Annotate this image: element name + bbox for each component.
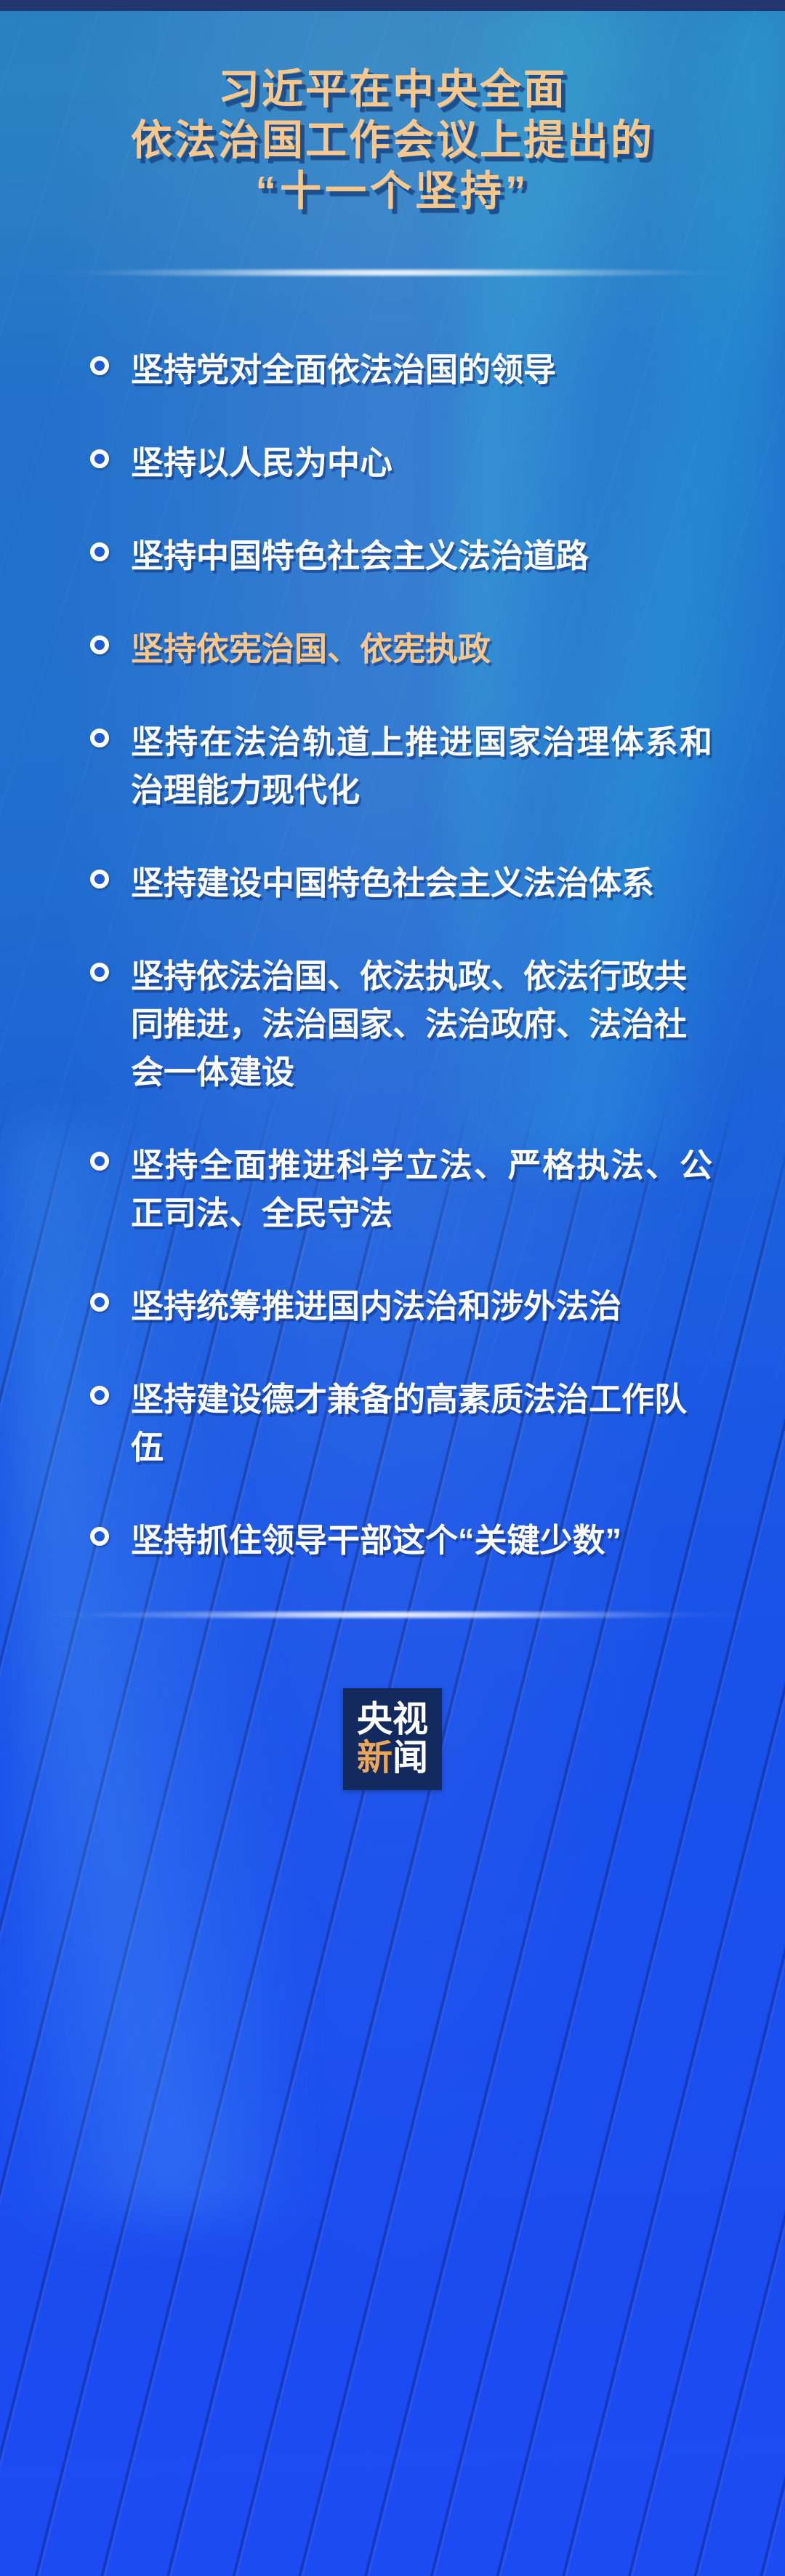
poster-header: 习近平在中央全面 依法治国工作会议上提出的 “十一个坚持” (0, 0, 785, 217)
list-item: 坚持依法治国、依法执政、依法行政共同推进，法治国家、法治政府、法治社会一体建设 (0, 952, 785, 1096)
list-item: 坚持在法治轨道上推进国家治理体系和治理能力现代化 (0, 718, 785, 814)
bullet-circle-icon (90, 449, 109, 468)
bullet-circle-icon (90, 1152, 109, 1171)
bullet-circle-icon (90, 356, 109, 375)
list-item-label: 坚持以人民为中心 (131, 439, 392, 487)
bullet-circle-icon (90, 1527, 109, 1546)
logo-line-1: 央视 (357, 1702, 428, 1738)
divider-bottom-glow (23, 1611, 761, 1618)
logo-text-yangshi: 央视 (357, 1702, 428, 1738)
page-title-line-1: 习近平在中央全面 (0, 64, 785, 115)
bullet-circle-icon (90, 1293, 109, 1312)
list-item: 坚持以人民为中心 (0, 439, 785, 487)
bullet-circle-icon (90, 729, 109, 747)
list-item: 坚持全面推进科学立法、严格执法、公正司法、全民守法 (0, 1141, 785, 1237)
poster-footer: 央视 新闻 (0, 1618, 785, 1834)
list-item-label: 坚持中国特色社会主义法治道路 (131, 532, 589, 580)
list-item-label: 坚持统筹推进国内法治和涉外法治 (131, 1283, 621, 1331)
logo-line-2: 新闻 (357, 1741, 428, 1776)
bullet-circle-icon (90, 870, 109, 888)
list-item: 坚持建设德才兼备的高素质法治工作队伍 (0, 1376, 785, 1472)
bullet-circle-icon (90, 963, 109, 982)
list-item-label: 坚持党对全面依法治国的领导 (131, 346, 556, 394)
principles-list: 坚持党对全面依法治国的领导 坚持以人民为中心 坚持中国特色社会主义法治道路 坚持… (0, 276, 785, 1565)
logo-text-wen: 闻 (392, 1741, 428, 1776)
bullet-circle-icon (90, 542, 109, 561)
list-item: 坚持党对全面依法治国的领导 (0, 346, 785, 394)
list-item-label: 坚持抓住领导干部这个“关键少数” (131, 1517, 621, 1565)
list-item-label: 坚持依宪治国、依宪执政 (131, 625, 491, 673)
list-item-label: 坚持全面推进科学立法、严格执法、公正司法、全民守法 (131, 1141, 712, 1237)
bullet-circle-icon (90, 1386, 109, 1405)
logo-text-xin: 新 (357, 1741, 392, 1776)
list-item: 坚持依宪治国、依宪执政 (0, 625, 785, 673)
cctv-news-logo: 央视 新闻 (343, 1688, 442, 1790)
page-title-line-3: “十一个坚持” (0, 166, 785, 217)
divider-top-glow (23, 269, 761, 276)
list-item: 坚持抓住领导干部这个“关键少数” (0, 1517, 785, 1565)
list-item-label: 坚持建设德才兼备的高素质法治工作队伍 (131, 1376, 712, 1472)
list-item-label: 坚持在法治轨道上推进国家治理体系和治理能力现代化 (131, 718, 712, 814)
page-title-line-2: 依法治国工作会议上提出的 (0, 115, 785, 166)
list-item: 坚持统筹推进国内法治和涉外法治 (0, 1283, 785, 1331)
poster-root: 习近平在中央全面 依法治国工作会议上提出的 “十一个坚持” 坚持党对全面依法治国… (0, 0, 785, 2576)
list-item-label: 坚持建设中国特色社会主义法治体系 (131, 859, 654, 907)
list-item: 坚持建设中国特色社会主义法治体系 (0, 859, 785, 907)
list-item: 坚持中国特色社会主义法治道路 (0, 532, 785, 580)
list-item-label: 坚持依法治国、依法执政、依法行政共同推进，法治国家、法治政府、法治社会一体建设 (131, 952, 712, 1096)
bullet-circle-icon (90, 635, 109, 654)
